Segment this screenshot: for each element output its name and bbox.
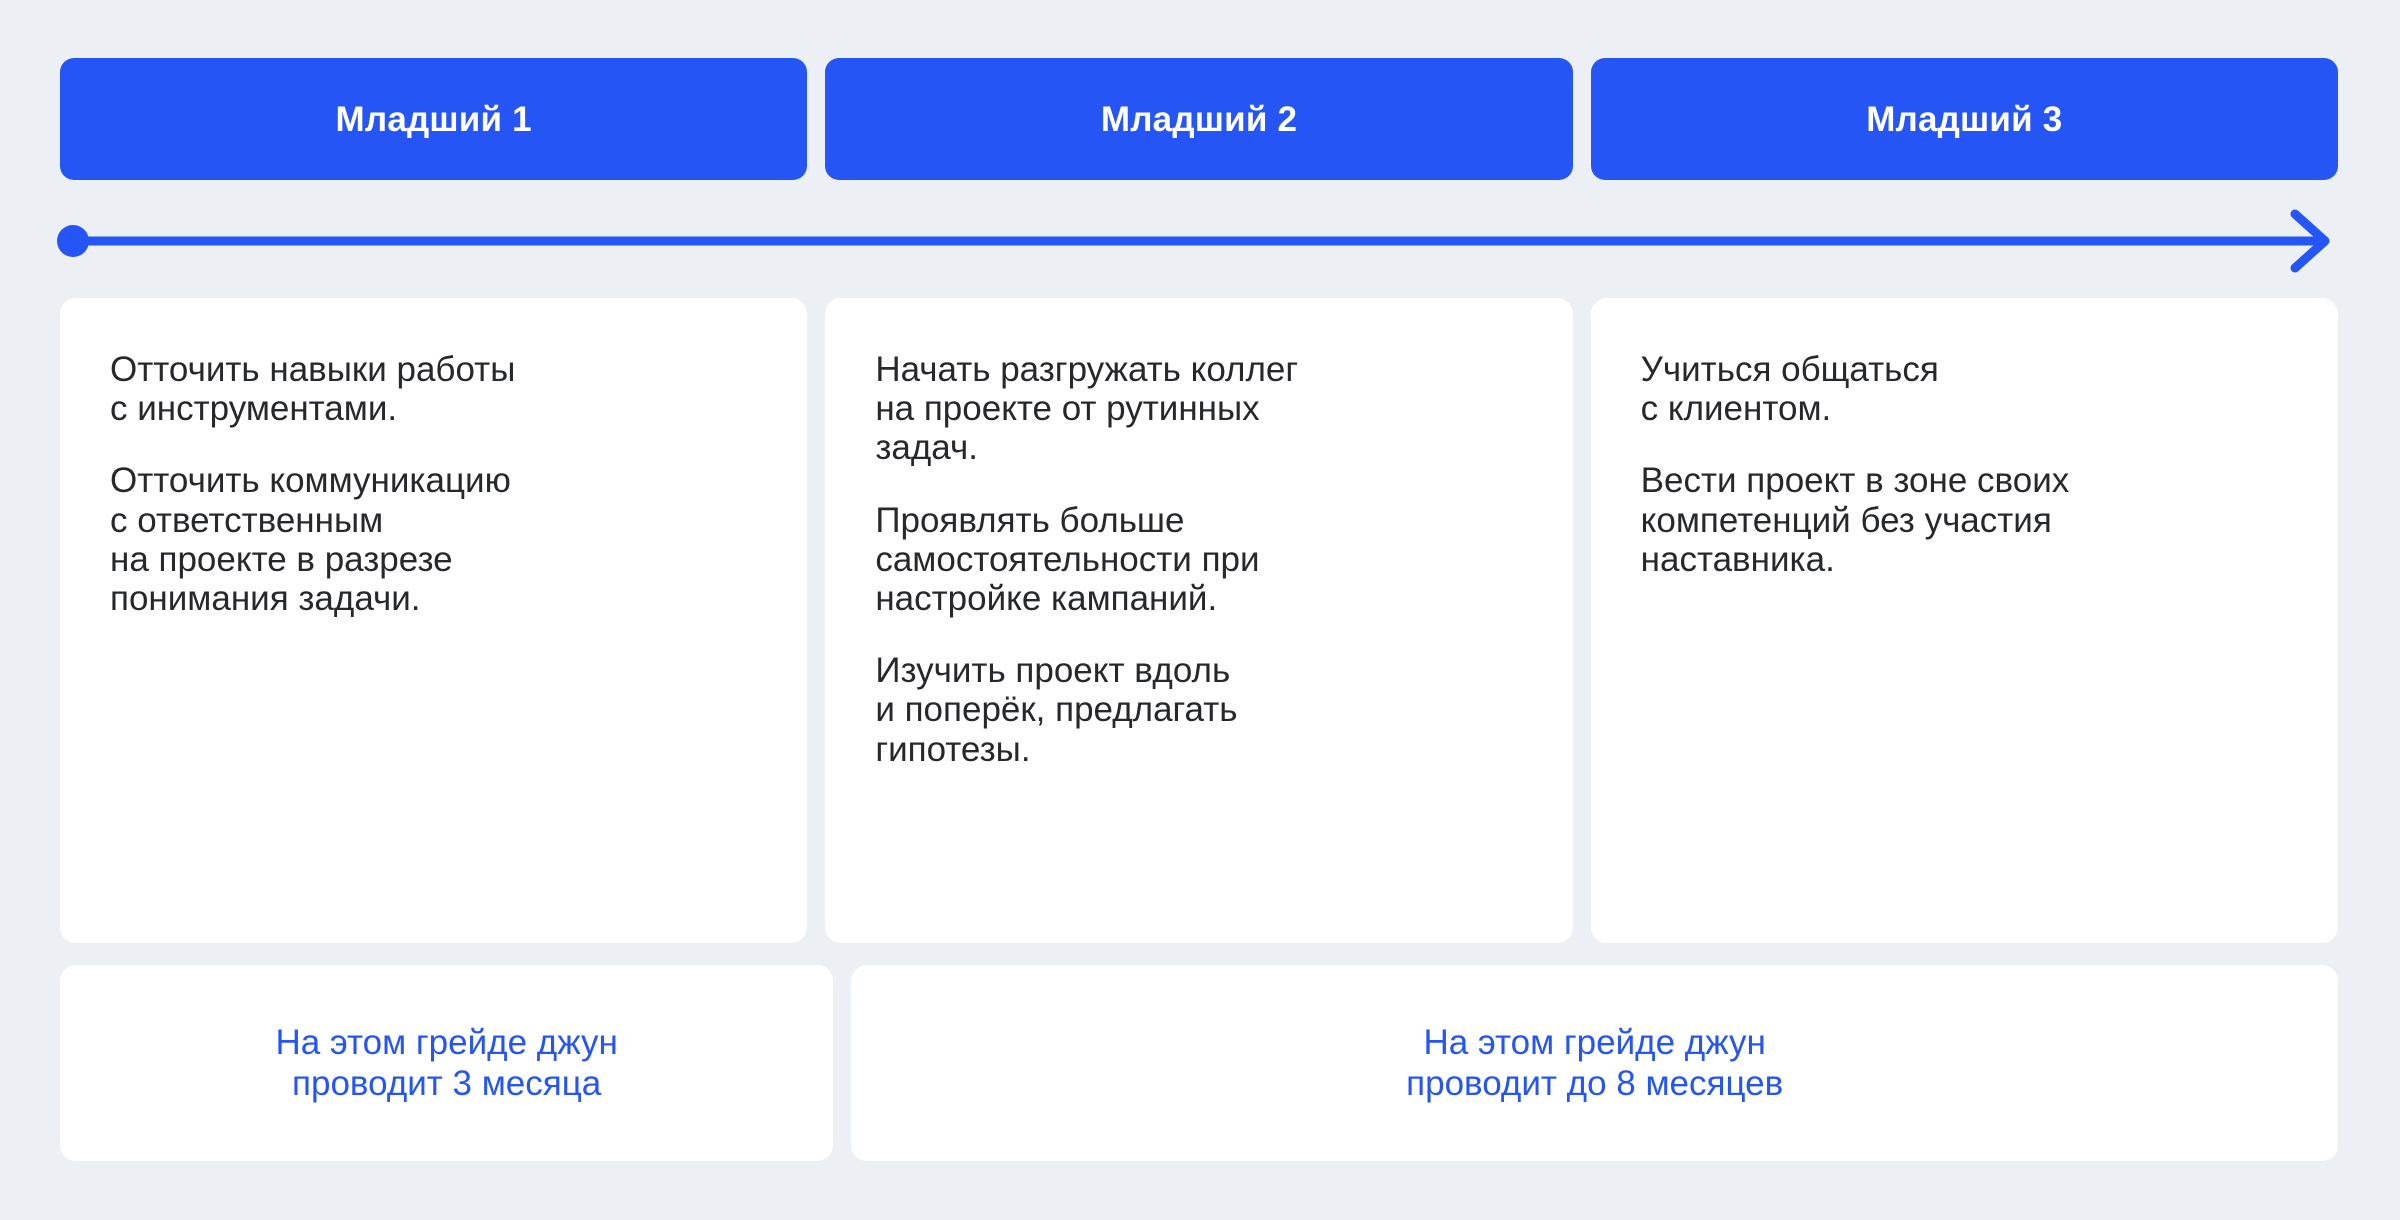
grade-footer-row: На этом грейде джун проводит 3 месяца На…: [60, 965, 2338, 1161]
grade-header-card-2[interactable]: Младший 2: [825, 58, 1572, 180]
grade-duration-note: На этом грейде джун проводит до 8 месяце…: [1406, 1022, 1783, 1105]
grade-body-card-3: Учиться общаться с клиентом. Вести проек…: [1591, 298, 2338, 943]
grade-body-row: Отточить навыки работы с инструментами. …: [60, 298, 2338, 943]
grade-header-label-1: Младший 1: [336, 102, 532, 137]
grade-header-row: Младший 1 Младший 2 Младший 3: [60, 58, 2338, 180]
grade-duration-card-1: На этом грейде джун проводит 3 месяца: [60, 965, 833, 1161]
goal-item: Вести проект в зоне своих компетенций бе…: [1641, 461, 2288, 579]
grade-header-label-3: Младший 3: [1866, 102, 2062, 137]
grade-body-card-1: Отточить навыки работы с инструментами. …: [60, 298, 807, 943]
grade-header-card-3[interactable]: Младший 3: [1591, 58, 2338, 180]
goal-item: Изучить проект вдоль и поперёк, предлага…: [875, 651, 1522, 769]
grade-header-label-2: Младший 2: [1101, 102, 1297, 137]
grade-duration-note: На этом грейде джун проводит 3 месяца: [275, 1022, 617, 1105]
grade-duration-card-2: На этом грейде джун проводит до 8 месяце…: [851, 965, 2338, 1161]
grade-header-card-1[interactable]: Младший 1: [60, 58, 807, 180]
goal-item: Проявлять больше самостоятельности при н…: [875, 501, 1522, 619]
goal-item: Начать разгружать коллег на проекте от р…: [875, 350, 1522, 468]
goal-item: Учиться общаться с клиентом.: [1641, 350, 2288, 428]
goal-item: Отточить коммуникацию с ответственным на…: [110, 461, 757, 618]
grade-roadmap-board: Младший 1 Младший 2 Младший 3 Отточить н…: [0, 0, 2400, 1220]
grade-body-card-2: Начать разгружать коллег на проекте от р…: [825, 298, 1572, 943]
timeline-arrow: [55, 208, 2345, 274]
goal-item: Отточить навыки работы с инструментами.: [110, 350, 757, 428]
